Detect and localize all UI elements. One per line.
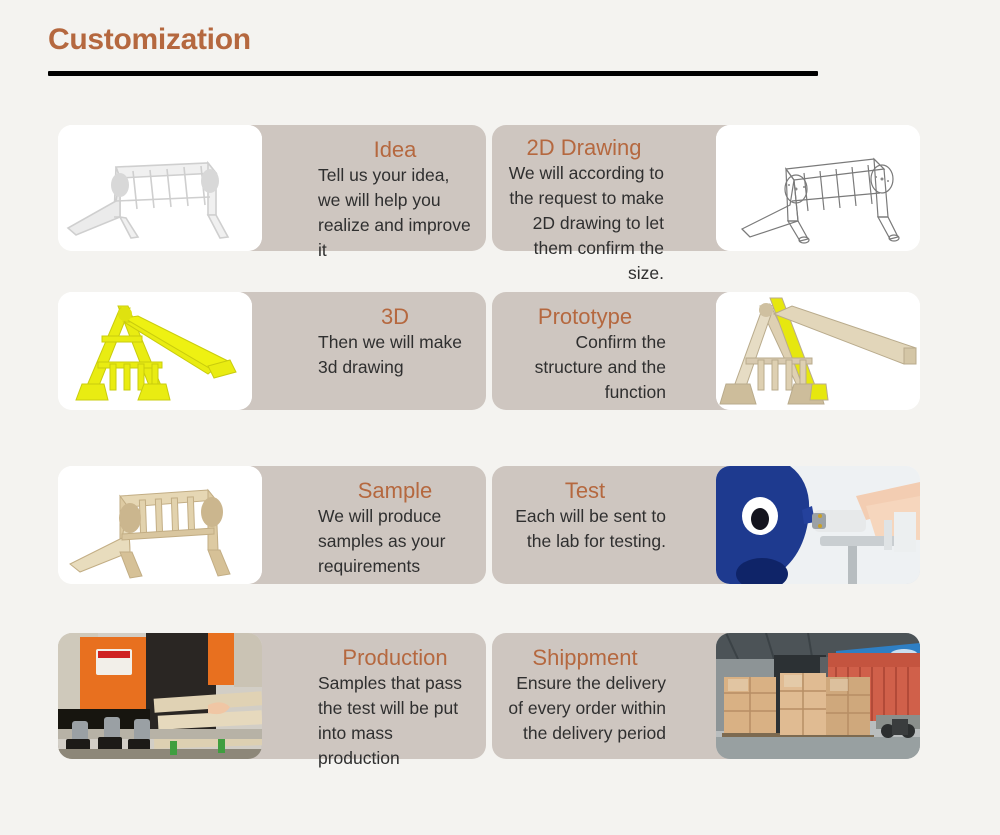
step-description: Ensure the delivery of every order withi… bbox=[504, 671, 666, 746]
pikler-triangle-wooden-prototype-icon bbox=[716, 292, 920, 410]
step-card-test[interactable]: Test Each will be sent to the lab for te… bbox=[492, 466, 920, 584]
steps-row-3: Sample We will produce samples as your r… bbox=[0, 448, 1000, 615]
page-title: Customization bbox=[48, 22, 818, 58]
step-card-text: Idea Tell us your idea, we will help you… bbox=[318, 137, 472, 263]
lab-testing-blue-toy-machine-icon bbox=[716, 466, 920, 584]
pikler-triangle-line-drawing-icon bbox=[716, 125, 920, 251]
pikler-triangle-wooden-sample-icon bbox=[58, 466, 262, 584]
step-description: Each will be sent to the lab for testing… bbox=[504, 504, 666, 554]
title-underline-rule bbox=[48, 71, 818, 76]
step-title: Prototype bbox=[504, 304, 666, 329]
step-title: Sample bbox=[318, 478, 472, 503]
step-card-text: Test Each will be sent to the lab for te… bbox=[504, 478, 666, 554]
step-description: We will according to the request to make… bbox=[504, 161, 664, 285]
step-image-3d bbox=[58, 292, 252, 410]
step-card-prototype[interactable]: Prototype Confirm the structure and the … bbox=[492, 292, 920, 410]
step-image-prototype bbox=[716, 292, 920, 410]
step-card-3d[interactable]: 3D Then we will make 3d drawing bbox=[58, 292, 486, 410]
step-card-text: Sample We will produce samples as your r… bbox=[318, 478, 472, 579]
warehouse-container-loading-pallets-icon bbox=[716, 633, 920, 759]
step-image-production bbox=[58, 633, 262, 759]
customization-steps-grid: Idea Tell us your idea, we will help you… bbox=[0, 110, 1000, 765]
pikler-triangle-pencil-sketch-icon bbox=[58, 125, 262, 251]
step-description: Tell us your idea, we will help you real… bbox=[318, 163, 472, 262]
step-card-2d-drawing[interactable]: 2D Drawing We will according to the requ… bbox=[492, 125, 920, 251]
step-card-text: Shippment Ensure the delivery of every o… bbox=[504, 645, 666, 746]
step-card-shippment[interactable]: Shippment Ensure the delivery of every o… bbox=[492, 633, 920, 759]
steps-row-1: Idea Tell us your idea, we will help you… bbox=[0, 110, 1000, 280]
step-title: 3D bbox=[318, 304, 472, 329]
step-card-sample[interactable]: Sample We will produce samples as your r… bbox=[58, 466, 486, 584]
step-image-test bbox=[716, 466, 920, 584]
step-card-text: 3D Then we will make 3d drawing bbox=[318, 304, 472, 380]
step-card-text: Production Samples that pass the test wi… bbox=[318, 645, 472, 771]
step-card-production[interactable]: Production Samples that pass the test wi… bbox=[58, 633, 486, 759]
steps-row-4: Production Samples that pass the test wi… bbox=[0, 615, 1000, 765]
pikler-triangle-3d-yellow-render-icon bbox=[58, 292, 252, 410]
step-description: Then we will make 3d drawing bbox=[318, 330, 472, 380]
step-image-2d-drawing bbox=[716, 125, 920, 251]
step-description: We will produce samples as your requirem… bbox=[318, 504, 472, 579]
page-header: Customization bbox=[48, 22, 818, 76]
step-title: Shippment bbox=[504, 645, 666, 670]
step-title: 2D Drawing bbox=[504, 135, 664, 160]
step-image-sample bbox=[58, 466, 262, 584]
step-title: Test bbox=[504, 478, 666, 503]
step-card-text: 2D Drawing We will according to the requ… bbox=[504, 135, 664, 286]
step-card-text: Prototype Confirm the structure and the … bbox=[504, 304, 666, 405]
step-image-shippment bbox=[716, 633, 920, 759]
step-description: Confirm the structure and the function bbox=[504, 330, 666, 405]
step-title: Idea bbox=[318, 137, 472, 162]
step-description: Samples that pass the test will be put i… bbox=[318, 671, 472, 770]
factory-woodworking-machine-icon bbox=[58, 633, 262, 759]
step-card-idea[interactable]: Idea Tell us your idea, we will help you… bbox=[58, 125, 486, 251]
steps-row-2: 3D Then we will make 3d drawing bbox=[0, 280, 1000, 448]
step-image-idea bbox=[58, 125, 262, 251]
step-title: Production bbox=[318, 645, 472, 670]
